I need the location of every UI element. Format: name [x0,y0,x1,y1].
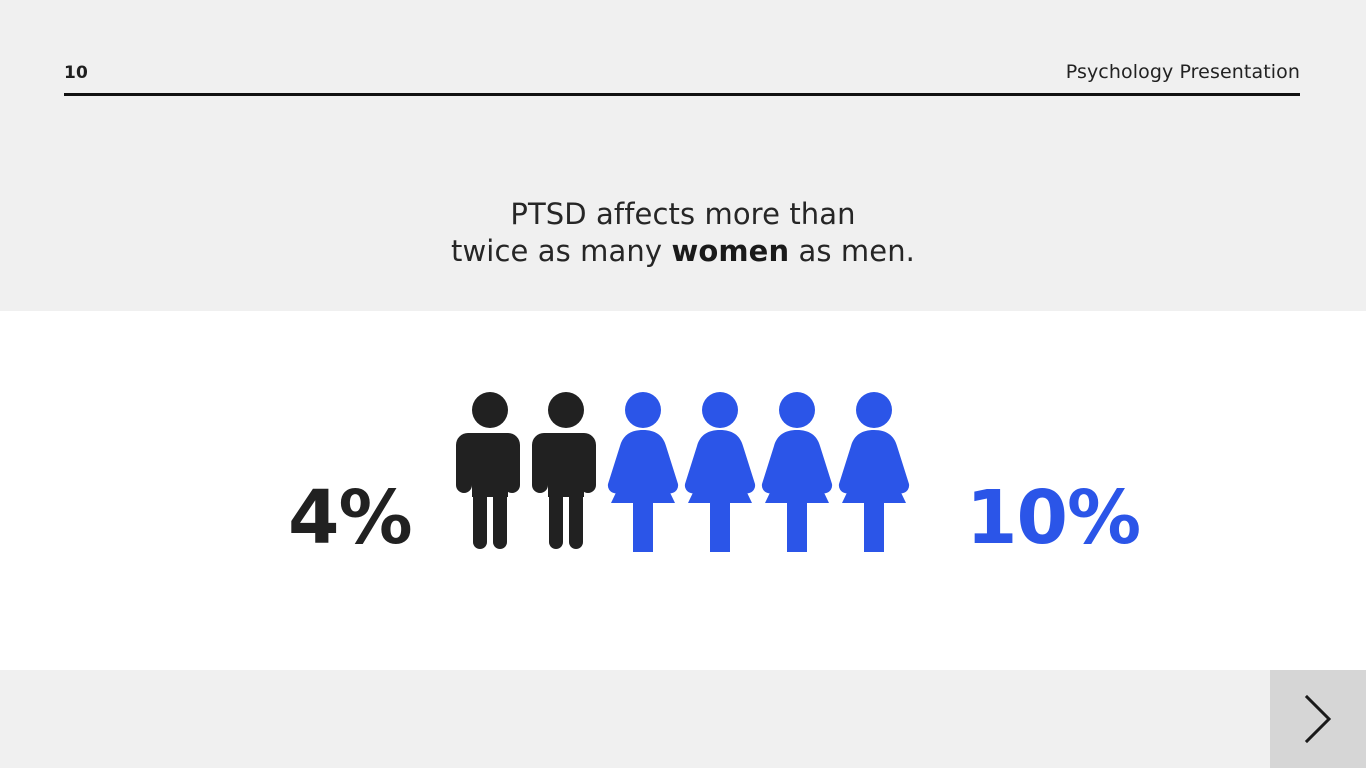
woman-figure-icon [836,390,912,555]
slide-header: 10 Psychology Presentation [64,38,1300,94]
page-number: 10 [64,65,88,82]
deck-title: Psychology Presentation [1066,63,1300,82]
next-slide-button[interactable] [1270,670,1366,768]
woman-figure-icon [759,390,835,555]
pictogram-figures [452,390,922,560]
slide: 10 Psychology Presentation PTSD affects … [0,0,1366,768]
headline-line-1: PTSD affects more than [0,196,1366,233]
man-figure-icon [452,390,528,555]
headline: PTSD affects more than twice as many wom… [0,196,1366,270]
headline-line-2-suffix: as men. [789,234,915,268]
stat-value-women: 10% [966,481,1140,555]
headline-line-2-prefix: twice as many [451,234,671,268]
chevron-right-icon [1301,693,1335,745]
header-divider [64,93,1300,96]
stat-value-men: 4% [288,481,412,555]
woman-figure-icon [682,390,758,555]
header-row: 10 Psychology Presentation [64,38,1300,82]
headline-emphasis-women: women [671,234,789,268]
man-figure-icon [528,390,604,555]
headline-line-2: twice as many women as men. [0,233,1366,270]
bottom-gray-band [0,670,1366,768]
woman-figure-icon [605,390,681,555]
